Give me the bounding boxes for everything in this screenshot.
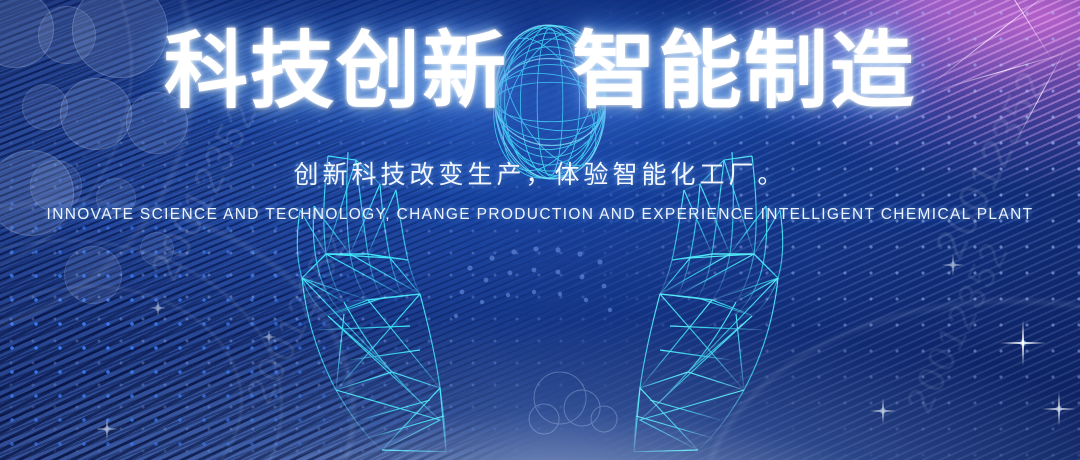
headline-left: 科技创新 [164,22,508,120]
headline-right: 智能制造 [572,22,916,120]
tagline-english: INNOVATE SCIENCE AND TECHNOLOGY, CHANGE … [0,206,1080,224]
hero-banner: 20012352 20012352 20012352 20012352 科技创新… [0,0,1080,460]
subtitle: 创新科技改变生产，体验智能化工厂。 [0,155,1080,191]
page-title: 科技创新智能制造 [0,24,1080,118]
banner-text-block: 科技创新智能制造 创新科技改变生产，体验智能化工厂。 INNOVATE SCIE… [0,0,1080,460]
